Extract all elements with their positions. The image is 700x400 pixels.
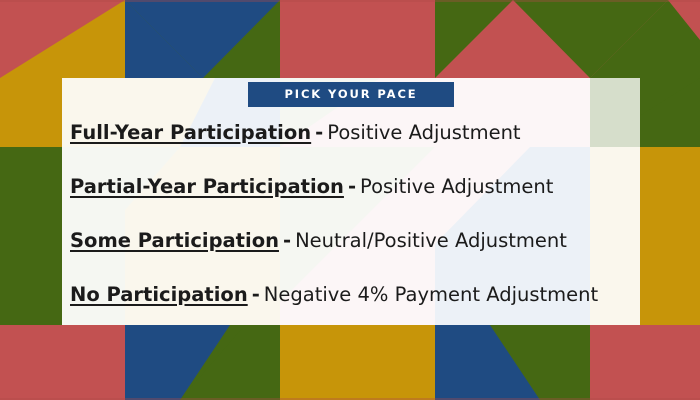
poster-canvas: PICK YOUR PACE Full-Year Participation -… — [0, 0, 700, 400]
list-item-dash: - — [344, 177, 360, 197]
list-item-term: Full-Year Participation — [70, 123, 311, 143]
list-item-description: Neutral/Positive Adjustment — [295, 231, 567, 251]
list-item-dash: - — [311, 123, 327, 143]
content-panel: PICK YOUR PACE Full-Year Participation -… — [62, 78, 640, 325]
list-item: Some Participation - Neutral/Positive Ad… — [70, 226, 640, 256]
list-item-dash: - — [279, 231, 295, 251]
list-item: Full-Year Participation - Positive Adjus… — [70, 118, 640, 148]
list-item-term: Partial-Year Participation — [70, 177, 344, 197]
list-item: No Participation - Negative 4% Payment A… — [70, 280, 640, 310]
banner-label: PICK YOUR PACE — [284, 89, 417, 101]
list-item-term: Some Participation — [70, 231, 279, 251]
list-item-description: Positive Adjustment — [327, 123, 520, 143]
list-item-description: Positive Adjustment — [360, 177, 553, 197]
section-banner: PICK YOUR PACE — [248, 82, 454, 107]
list-item-term: No Participation — [70, 285, 248, 305]
list-item-dash: - — [248, 285, 264, 305]
list-item-description: Negative 4% Payment Adjustment — [264, 285, 598, 305]
participation-list: Full-Year Participation - Positive Adjus… — [70, 114, 640, 319]
list-item: Partial-Year Participation - Positive Ad… — [70, 172, 640, 202]
